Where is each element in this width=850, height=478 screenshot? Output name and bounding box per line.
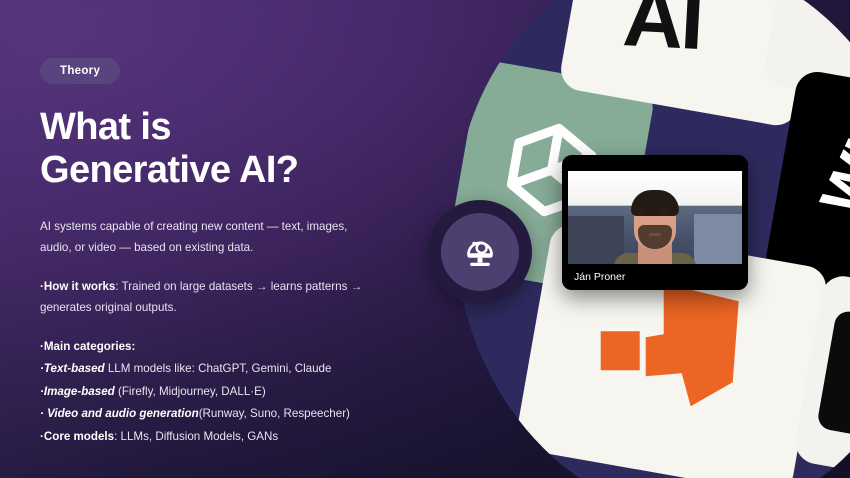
participant-avatar bbox=[612, 181, 698, 266]
avatar-brow-right bbox=[658, 208, 669, 211]
list-item: ·Text-based LLM models like: ChatGPT, Ge… bbox=[40, 358, 420, 381]
video-call-tile[interactable]: Ján Proner bbox=[562, 155, 748, 290]
title-line-1: What is bbox=[40, 106, 171, 148]
page-title: What is Generative AI? bbox=[40, 106, 420, 192]
how-it-works-label: ·How it works bbox=[40, 280, 115, 293]
bullet-text: (Firefly, Midjourney, DALL·E) bbox=[115, 385, 266, 398]
how-it-works-paragraph: ·How it works: Trained on large datasets… bbox=[40, 276, 370, 319]
title-line-2: Generative AI? bbox=[40, 149, 420, 192]
list-item: ·Core models: LLMs, Diffusion Models, GA… bbox=[40, 426, 420, 449]
participant-name: Ján Proner bbox=[562, 271, 625, 283]
list-item: ·Main categories: bbox=[40, 336, 420, 359]
slide-content: Theory What is Generative AI? AI systems… bbox=[40, 58, 420, 449]
orange-logo-icon bbox=[595, 277, 745, 427]
webcam-badge bbox=[428, 200, 532, 304]
dark-panel bbox=[816, 309, 850, 450]
webcam-icon bbox=[460, 233, 500, 271]
intro-paragraph: AI systems capable of creating new conte… bbox=[40, 216, 370, 259]
list-item: · Video and audio generation(Runway, Sun… bbox=[40, 403, 420, 426]
avatar-eye-right bbox=[660, 212, 668, 216]
bullet-text: : LLMs, Diffusion Models, GANs bbox=[114, 430, 278, 443]
avatar-brow-left bbox=[636, 208, 647, 211]
bullet-text: (Runway, Suno, Respeecher) bbox=[199, 407, 350, 420]
theory-badge: Theory bbox=[40, 58, 120, 84]
wix-tile-label: WIX bbox=[811, 95, 850, 225]
bullet-text: LLM models like: ChatGPT, Gemini, Claude bbox=[105, 362, 332, 375]
ai-tile-label: AI bbox=[621, 0, 703, 62]
bullet-label: · Video and audio generation bbox=[40, 407, 199, 420]
bullet-label: ·Image-based bbox=[40, 385, 115, 398]
bullet-label: ·Core models bbox=[40, 430, 114, 443]
avatar-mouth bbox=[649, 233, 661, 236]
feed-background-right bbox=[694, 214, 742, 266]
participant-name-bar: Ján Proner bbox=[562, 264, 748, 290]
webcam-badge-inner bbox=[441, 213, 519, 291]
slide-root: Theory What is Generative AI? AI systems… bbox=[0, 0, 850, 478]
bullet-list: ·Main categories: ·Text-based LLM models… bbox=[40, 336, 420, 449]
bullet-label: ·Main categories: bbox=[40, 340, 135, 353]
list-item: ·Image-based (Firefly, Midjourney, DALL·… bbox=[40, 381, 420, 404]
avatar-eye-left bbox=[638, 212, 646, 216]
bullet-label: ·Text-based bbox=[40, 362, 105, 375]
webcam-feed bbox=[568, 171, 742, 266]
